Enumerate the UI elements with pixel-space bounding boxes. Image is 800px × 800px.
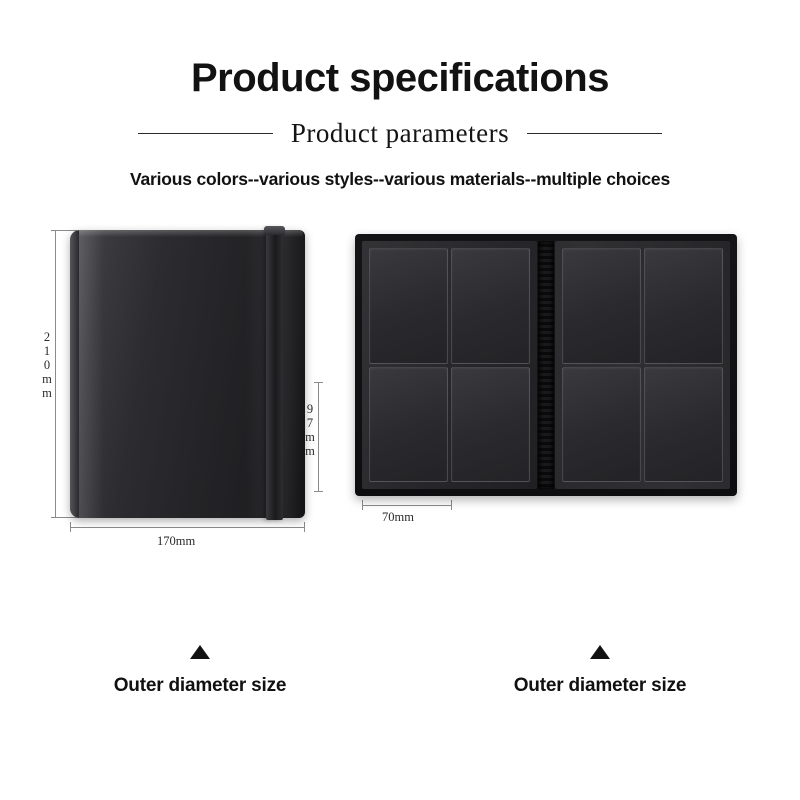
card-pocket bbox=[644, 248, 723, 364]
closed-width-label: 170mm bbox=[157, 534, 195, 549]
page-title: Product specifications bbox=[0, 56, 800, 100]
card-pocket bbox=[451, 367, 530, 483]
closed-height-label: 210mm bbox=[39, 330, 54, 400]
binder-elastic-strap bbox=[266, 228, 283, 520]
open-width-tick-right bbox=[451, 500, 452, 510]
open-binder-image bbox=[355, 234, 737, 496]
subtitle-rule-right bbox=[527, 133, 662, 134]
card-pocket bbox=[369, 248, 448, 364]
closed-height-guide-line bbox=[55, 230, 56, 518]
triangle-up-icon bbox=[590, 645, 610, 659]
triangle-up-icon bbox=[190, 645, 210, 659]
closed-binder-caption-block: Outer diameter size bbox=[40, 645, 360, 697]
subtitle-rule-left bbox=[138, 133, 273, 134]
open-binder-figure: 97mm 70mm bbox=[300, 222, 770, 542]
closed-width-guide-line bbox=[70, 527, 305, 528]
card-pocket bbox=[562, 367, 641, 483]
page-header: Product specifications Product parameter… bbox=[0, 0, 800, 190]
closed-binder-image bbox=[70, 230, 305, 518]
product-figures: 210mm 170mm 97mm 70mm bbox=[0, 222, 800, 552]
subtitle-row: Product parameters bbox=[0, 118, 800, 149]
binder-elastic-strap-top bbox=[264, 226, 285, 235]
card-pocket bbox=[562, 248, 641, 364]
open-height-tick-top bbox=[314, 382, 323, 383]
binder-page-left bbox=[362, 241, 537, 489]
open-binder-caption: Outer diameter size bbox=[430, 675, 770, 697]
open-width-tick-left bbox=[362, 500, 363, 510]
figure-captions: Outer diameter size Outer diameter size bbox=[0, 645, 800, 755]
closed-binder-caption: Outer diameter size bbox=[40, 675, 360, 697]
card-pocket bbox=[644, 367, 723, 483]
open-height-guide-line bbox=[318, 382, 319, 492]
card-pocket bbox=[451, 248, 530, 364]
binder-page-right bbox=[555, 241, 730, 489]
binder-gutter bbox=[538, 241, 554, 489]
binder-spine bbox=[70, 230, 79, 518]
open-width-guide-line bbox=[362, 505, 452, 506]
page-subtitle: Product parameters bbox=[273, 118, 527, 149]
open-width-label: 70mm bbox=[382, 510, 414, 525]
open-binder-caption-block: Outer diameter size bbox=[430, 645, 770, 697]
open-height-label: 97mm bbox=[302, 402, 317, 458]
page-tagline: Various colors--various styles--various … bbox=[0, 169, 800, 190]
closed-width-tick-left bbox=[70, 522, 71, 532]
open-height-tick-bottom bbox=[314, 491, 323, 492]
card-pocket bbox=[369, 367, 448, 483]
